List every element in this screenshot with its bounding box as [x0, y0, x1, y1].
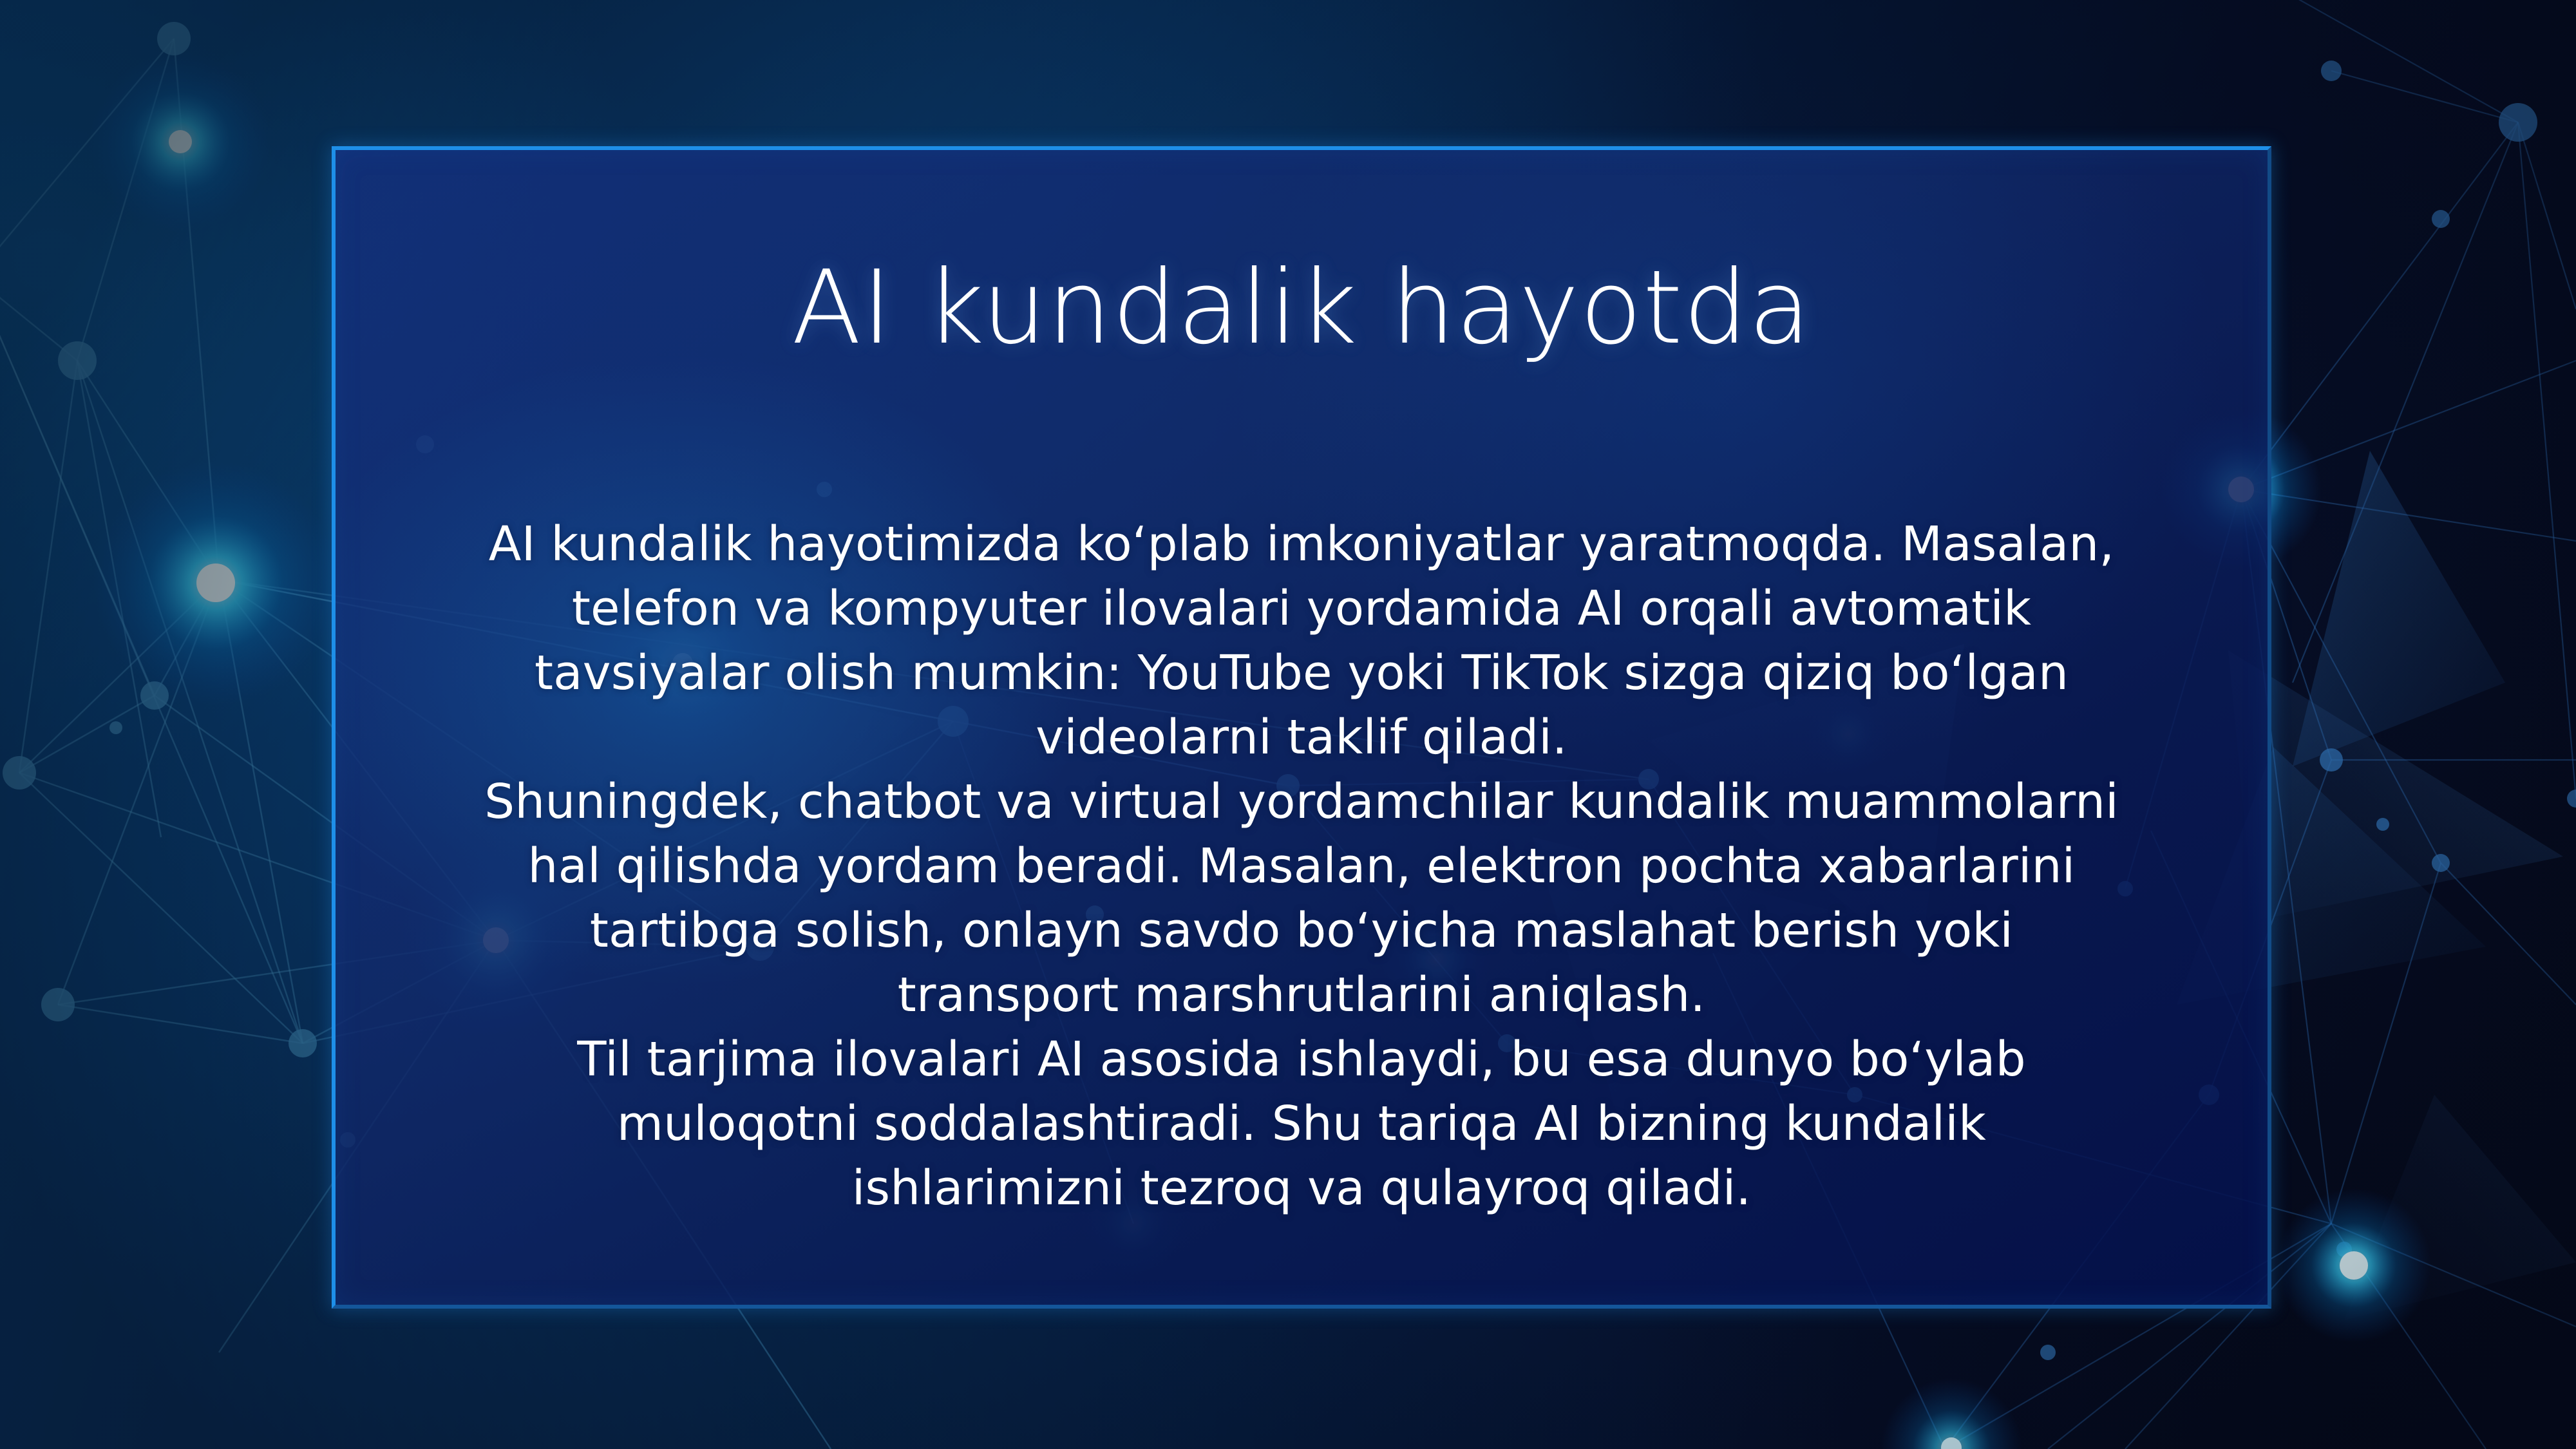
- slide-content: AI kundalik hayotda AI kundalik hayotimi…: [332, 146, 2271, 1309]
- body-paragraph: Til tarjima ilovalari AI asosida ishlayd…: [477, 1027, 2126, 1220]
- body-paragraph: AI kundalik hayotimizda ko‘plab imkoniya…: [477, 512, 2126, 770]
- presentation-slide: AI kundalik hayotda AI kundalik hayotimi…: [0, 0, 2576, 1449]
- body-paragraph: Shuningdek, chatbot va virtual yordamchi…: [477, 770, 2126, 1027]
- slide-body-text: AI kundalik hayotimizda ko‘plab imkoniya…: [477, 512, 2126, 1220]
- slide-title: AI kundalik hayotda: [791, 257, 1812, 359]
